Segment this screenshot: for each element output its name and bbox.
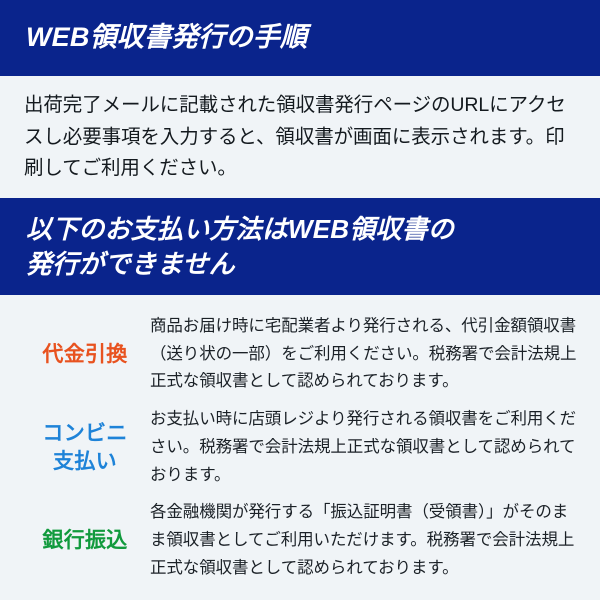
payment-method-label-bank-transfer: 銀行振込 <box>24 527 146 554</box>
receipt-info-graphic: WEB領収書発行の手順 出荷完了メールに記載された領収書発行ページのURLにアク… <box>0 0 600 600</box>
procedure-description-text: 出荷完了メールに記載された領収書発行ページのURLにアクセスし必要事項を入力する… <box>24 90 578 185</box>
section-header-unavailable-methods: 以下のお支払い方法はWEB領収書の 発行ができません <box>0 198 600 295</box>
payment-method-label-convenience-store: コンビニ 支払い <box>24 420 146 475</box>
payment-method-description-cash-on-delivery: 商品お届け時に宅配業者より発行される、代引金額領収書（送り状の一部）をご利用くだ… <box>146 313 582 396</box>
payment-method-description-convenience-store: お支払い時に店頭レジより発行される領収書をご利用ください。税務署で会計法規上正式… <box>146 406 582 489</box>
section-1-heading: WEB領収書発行の手順 <box>26 20 307 56</box>
payment-method-description-bank-transfer: 各金融機関が発行する「振込証明書（受領書）」がそのまま領収書としてご利用いただけ… <box>146 499 582 582</box>
payment-method-row-convenience-store: コンビニ 支払い お支払い時に店頭レジより発行される領収書をご利用ください。税務… <box>0 406 600 489</box>
payment-method-list: 代金引換 商品お届け時に宅配業者より発行される、代引金額領収書（送り状の一部）を… <box>0 295 600 582</box>
section-header-procedure: WEB領収書発行の手順 <box>0 0 600 76</box>
procedure-description-block: 出荷完了メールに記載された領収書発行ページのURLにアクセスし必要事項を入力する… <box>0 76 600 198</box>
payment-method-label-cash-on-delivery: 代金引換 <box>24 341 146 368</box>
payment-method-row-cash-on-delivery: 代金引換 商品お届け時に宅配業者より発行される、代引金額領収書（送り状の一部）を… <box>0 313 600 396</box>
section-2-heading: 以下のお支払い方法はWEB領収書の 発行ができません <box>26 212 454 281</box>
payment-method-row-bank-transfer: 銀行振込 各金融機関が発行する「振込証明書（受領書）」がそのまま領収書としてご利… <box>0 499 600 582</box>
